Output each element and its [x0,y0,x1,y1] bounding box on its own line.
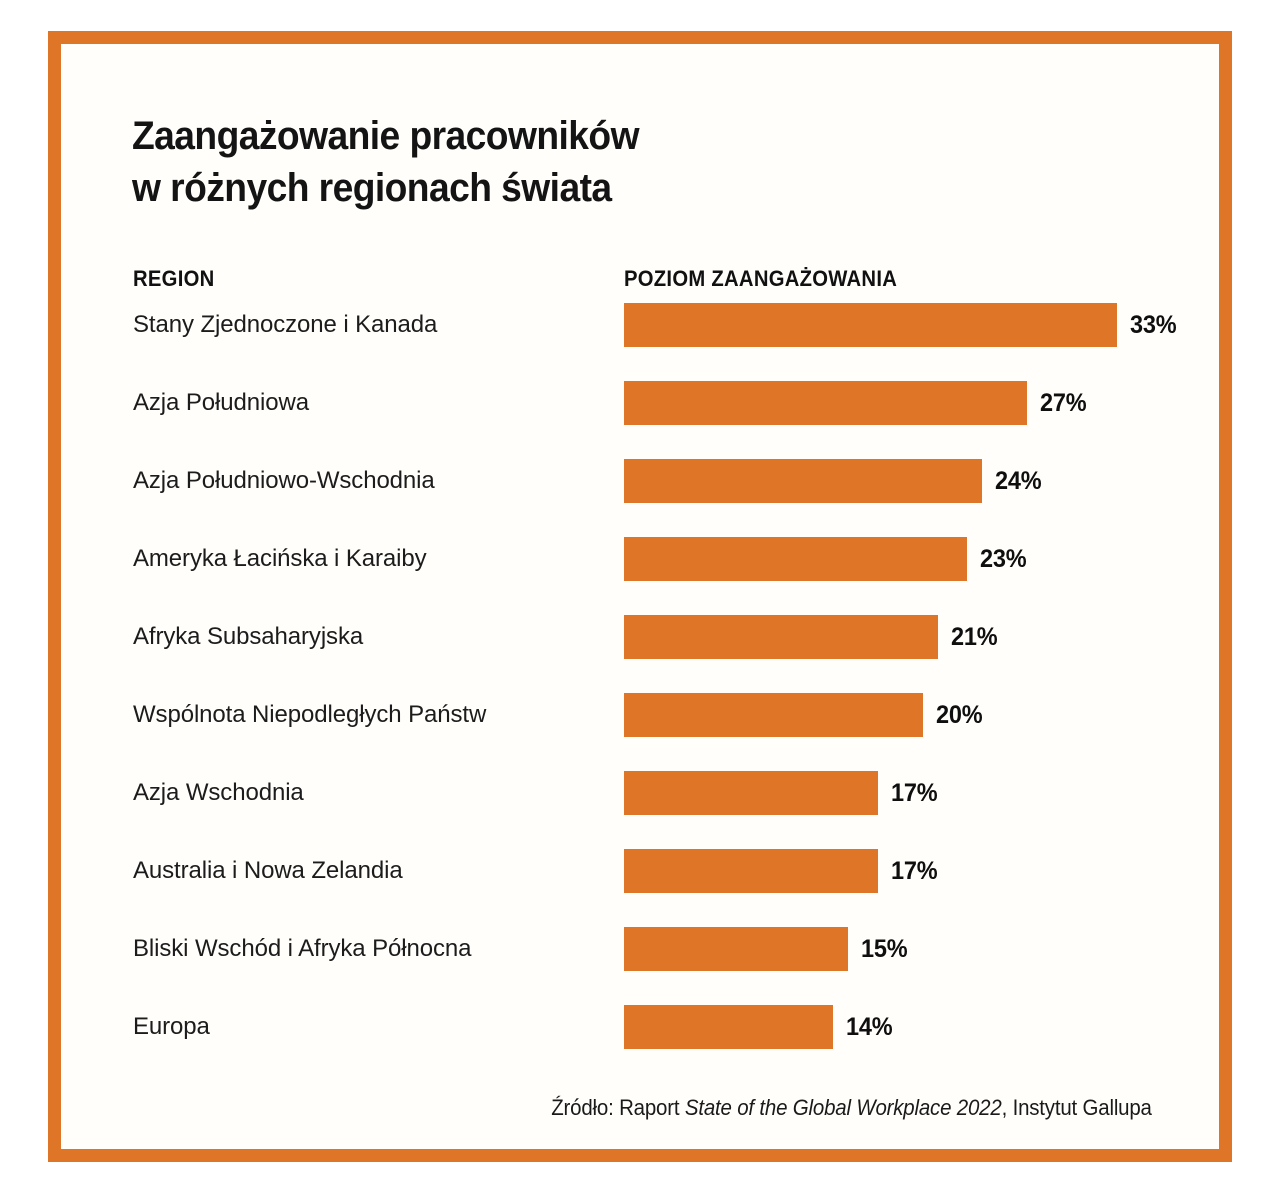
bar-value-label: 27% [1040,389,1086,418]
bar [624,615,938,659]
bar-chart-rows: Stany Zjednoczone i Kanada33%Azja Połudn… [61,303,1219,1083]
bar-value-label: 21% [951,623,997,652]
chart-row: Azja Wschodnia17% [61,771,1219,849]
chart-row: Bliski Wschód i Afryka Północna15% [61,927,1219,1005]
bar-track: 20% [624,693,985,737]
region-label: Azja Południowo-Wschodnia [133,459,435,503]
region-label: Bliski Wschód i Afryka Północna [133,927,471,971]
bar-value-label: 14% [846,1013,892,1042]
bar [624,693,923,737]
chart-row: Stany Zjednoczone i Kanada33% [61,303,1219,381]
source-note: Źródło: Raport State of the Global Workp… [551,1095,1152,1121]
bar [624,381,1027,425]
infographic-card: Zaangażowanie pracowników w różnych regi… [48,31,1232,1162]
chart-row: Wspólnota Niepodległych Państw20% [61,693,1219,771]
region-label: Europa [133,1005,210,1049]
bar [624,459,982,503]
bar-value-label: 20% [936,701,982,730]
bar-value-label: 17% [891,779,937,808]
bar [624,849,878,893]
source-report-title: State of the Global Workplace 2022 [685,1095,1002,1120]
card-inner: Zaangażowanie pracowników w różnych regi… [61,44,1219,1149]
bar-track: 23% [624,537,1030,581]
chart-row: Australia i Nowa Zelandia17% [61,849,1219,927]
bar-track: 27% [624,381,1090,425]
bar-track: 21% [624,615,1000,659]
region-label: Stany Zjednoczone i Kanada [133,303,437,347]
chart-row: Ameryka Łacińska i Karaiby23% [61,537,1219,615]
bar-value-label: 15% [861,935,907,964]
region-label: Azja Wschodnia [133,771,304,815]
chart-row: Azja Południowo-Wschodnia24% [61,459,1219,537]
bar-value-label: 33% [1130,311,1176,340]
region-label: Azja Południowa [133,381,309,425]
bar-track: 14% [624,1005,895,1049]
bar [624,771,878,815]
region-label: Australia i Nowa Zelandia [133,849,403,893]
bar-value-label: 24% [995,467,1041,496]
bar [624,303,1117,347]
bar [624,1005,833,1049]
region-label: Wspólnota Niepodległych Państw [133,693,486,737]
bar [624,537,967,581]
region-label: Afryka Subsaharyjska [133,615,363,659]
page-title: Zaangażowanie pracowników w różnych regi… [132,110,932,214]
bar [624,927,848,971]
chart-row: Europa14% [61,1005,1219,1083]
chart-row: Azja Południowa27% [61,381,1219,459]
bar-value-label: 23% [980,545,1026,574]
region-label: Ameryka Łacińska i Karaiby [133,537,427,581]
bar-track: 17% [624,771,940,815]
bar-track: 33% [624,303,1179,347]
bar-track: 15% [624,927,910,971]
bar-track: 17% [624,849,940,893]
column-header-engagement-level: POZIOM ZAANGAŻOWANIA [624,266,897,292]
column-header-region: REGION [133,266,215,292]
bar-track: 24% [624,459,1045,503]
chart-row: Afryka Subsaharyjska21% [61,615,1219,693]
bar-value-label: 17% [891,857,937,886]
